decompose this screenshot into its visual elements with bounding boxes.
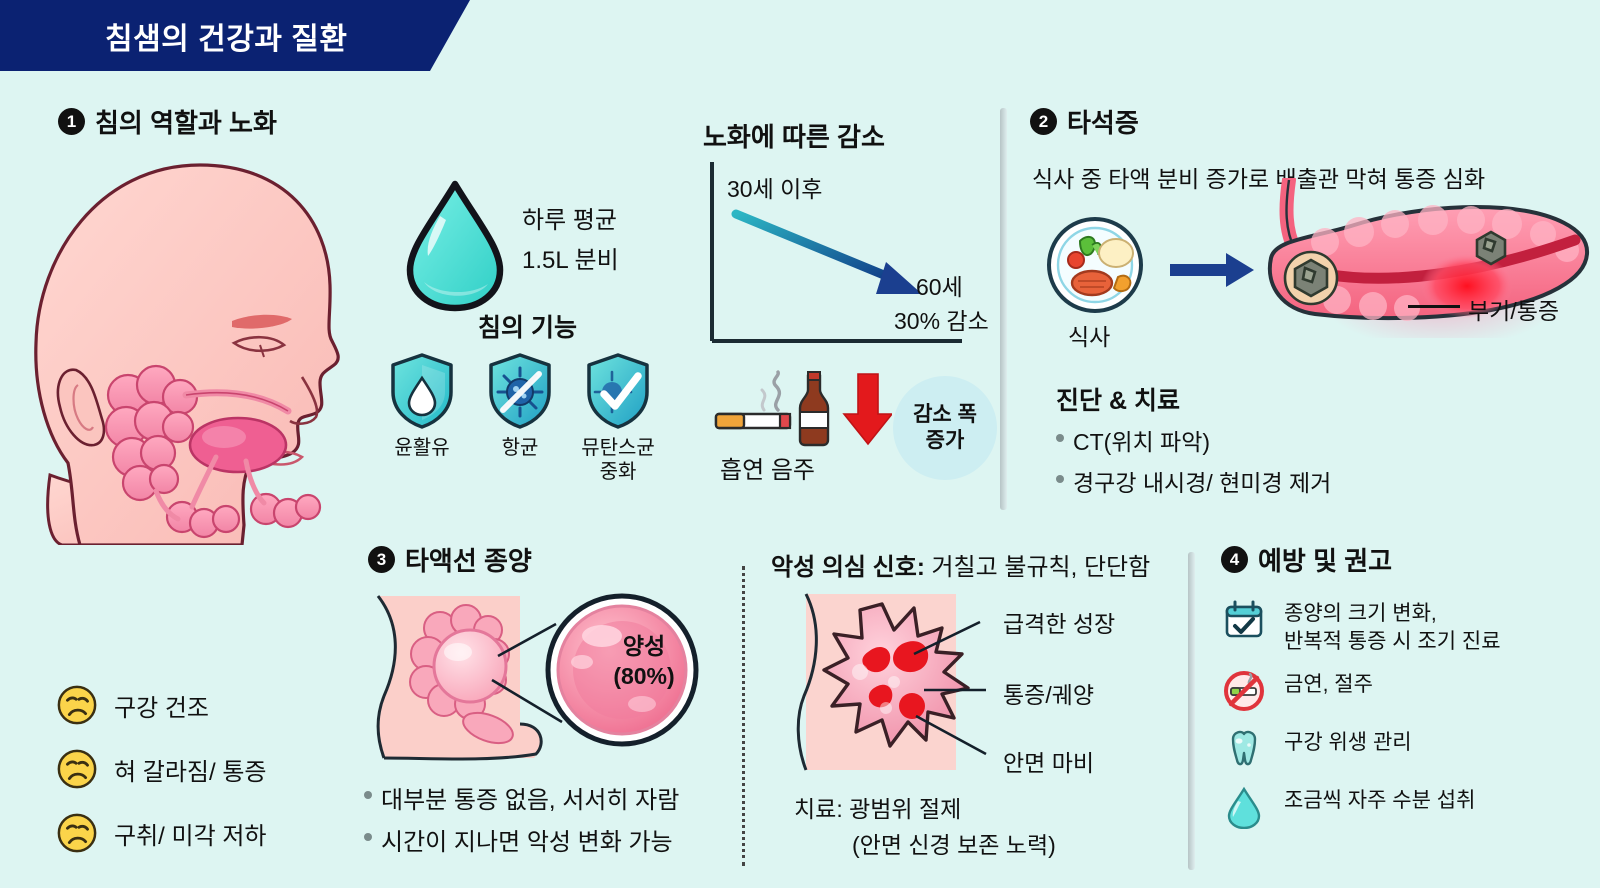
section2-number-badge: 2 <box>1030 108 1057 135</box>
function-item-lubricant: 윤활유 <box>376 352 468 484</box>
aging-chart-title: 노화에 따른 감소 <box>703 117 885 154</box>
malignant-callout-2: 안면 마비 <box>1003 744 1094 778</box>
section3-heading: 3 타액선 종양 <box>368 541 532 578</box>
benign-note-0: 대부분 통증 없음, 서서히 자람 <box>381 780 679 815</box>
section1-heading: 1 침의 역할과 노화 <box>58 103 277 140</box>
malignant-tumor-diagram <box>790 590 1030 775</box>
water-drop-icon <box>1222 785 1266 829</box>
prevention-line1: 종양의 크기 변화, <box>1284 602 1437 625</box>
dry-mouth-symptom-list: 구강 건조 혀 갈라짐/ 통증 구취/ 미각 저하 <box>56 684 266 854</box>
malignant-treatment-line1: 치료: 광범위 절제 <box>794 790 961 824</box>
list-item: 대부분 통증 없음, 서서히 자람 <box>364 780 679 815</box>
tooth-icon <box>1222 727 1266 771</box>
sad-face-icon <box>56 684 98 726</box>
malignant-treatment-line2: (안면 신경 보존 노력) <box>852 826 1056 860</box>
symptom-label-dry-mouth: 구강 건조 <box>114 688 209 723</box>
prevention-item-nosmoking: 금연, 절주 <box>1222 669 1592 713</box>
function-label-antibacterial: 항균 <box>502 436 539 460</box>
drop-label-line1: 하루 평균 <box>522 200 617 235</box>
benign-notes-list: 대부분 통증 없음, 서서히 자람 시간이 지나면 악성 변화 가능 <box>364 780 679 864</box>
diagnosis-treatment-list: CT(위치 파악) 경구강 내시경/ 현미경 제거 <box>1056 423 1331 505</box>
prevention-text-nosmoking: 금연, 절주 <box>1284 669 1373 699</box>
prevention-item-hydration: 조금씩 자주 수분 섭취 <box>1222 785 1592 829</box>
cigarette-icon <box>716 372 790 428</box>
saliva-drop-icon <box>400 178 510 313</box>
list-item: 시간이 지나면 악성 변화 가능 <box>364 822 679 857</box>
section2-title: 타석증 <box>1067 103 1139 140</box>
salivary-glands-head-diagram <box>20 145 390 545</box>
prevention-list: 종양의 크기 변화, 반복적 통증 시 조기 진료 금연, 절주 <box>1222 598 1592 843</box>
benign-label-line1: 양성 <box>589 632 699 662</box>
benign-label-line2: (80%) <box>589 662 699 692</box>
diagnosis-treatment-title: 진단 & 치료 <box>1056 381 1180 417</box>
page-title: 침샘의 건강과 질환 <box>105 14 347 58</box>
treat-item-1: 경구강 내시경/ 현미경 제거 <box>1073 464 1331 498</box>
meal-label: 식사 <box>1068 318 1110 352</box>
section4-heading: 4 예방 및 권고 <box>1221 541 1392 578</box>
symptom-row-dry-mouth: 구강 건조 <box>56 684 266 726</box>
calendar-check-icon <box>1222 598 1266 642</box>
prevention-text-checkup: 종양의 크기 변화, 반복적 통증 시 조기 진료 <box>1284 598 1501 655</box>
bullet-dot-icon <box>1056 434 1064 442</box>
malignant-heading-rest: 거칠고 불규칙, 단단함 <box>925 554 1150 581</box>
divider-vertical-top-right <box>1000 108 1007 510</box>
symptom-label-bad-breath: 구취/ 미각 저하 <box>114 816 266 851</box>
section2-heading: 2 타석증 <box>1030 103 1139 140</box>
section3-title: 타액선 종양 <box>405 541 532 578</box>
decline-increase-badge: 감소 폭 증가 <box>893 376 997 480</box>
sad-face-icon <box>56 748 98 790</box>
shield-check-icon <box>585 352 651 430</box>
section4-title: 예방 및 권고 <box>1258 541 1392 578</box>
drop-label-line2: 1.5L 분비 <box>522 240 619 275</box>
function-label-lubricant: 윤활유 <box>394 436 449 460</box>
divider-vertical-bottom-right <box>1188 552 1195 870</box>
prevention-item-hygiene: 구강 위생 관리 <box>1222 727 1592 771</box>
function-item-antibacterial: 항균 <box>474 352 566 484</box>
treat-item-0: CT(위치 파악) <box>1073 423 1210 457</box>
sad-face-icon <box>56 812 98 854</box>
process-arrow-icon <box>1168 250 1258 290</box>
decline-increase-text: 감소 폭 증가 <box>913 402 977 455</box>
malignant-callout-1: 통증/궤양 <box>1003 676 1094 710</box>
symptom-label-tongue-pain: 혀 갈라짐/ 통증 <box>114 752 266 787</box>
prevention-item-checkup: 종양의 크기 변화, 반복적 통증 시 조기 진료 <box>1222 598 1592 655</box>
down-arrow-icon <box>844 374 892 444</box>
risk-factor-label: 흡연 음주 <box>720 450 815 485</box>
divider-dotted-bottom-middle <box>742 566 745 866</box>
chart-start-label: 30세 이후 <box>727 170 822 204</box>
benign-note-1: 시간이 지나면 악성 변화 가능 <box>381 822 673 857</box>
bullet-dot-icon <box>1056 475 1064 483</box>
section4-number-badge: 4 <box>1221 546 1248 573</box>
chart-end-label-decline: 30% 감소 <box>894 302 989 336</box>
section1-title: 침의 역할과 노화 <box>95 103 277 140</box>
header-bar: 침샘의 건강과 질환 <box>0 0 470 71</box>
malignant-heading-bold: 악성 의심 신호: <box>771 554 925 581</box>
bottle-icon <box>800 372 828 445</box>
function-label-mutans: 뮤탄스균 중화 <box>581 436 655 484</box>
section1-number-badge: 1 <box>58 108 85 135</box>
function-item-mutans: 뮤탄스균 중화 <box>572 352 664 484</box>
malignant-callout-0: 급격한 성장 <box>1003 605 1115 639</box>
bullet-dot-icon <box>364 833 372 841</box>
symptom-row-bad-breath: 구취/ 미각 저하 <box>56 812 266 854</box>
bullet-dot-icon <box>364 791 372 799</box>
prevention-text-hydration: 조금씩 자주 수분 섭취 <box>1284 785 1475 815</box>
section3-number-badge: 3 <box>368 546 395 573</box>
no-smoking-icon <box>1222 669 1266 713</box>
shield-virus-icon <box>487 352 553 430</box>
shield-droplet-icon <box>389 352 455 430</box>
list-item: 경구강 내시경/ 현미경 제거 <box>1056 464 1331 498</box>
benign-label: 양성 (80%) <box>589 632 699 692</box>
prevention-text-hygiene: 구강 위생 관리 <box>1284 727 1412 757</box>
function-shields: 윤활유 항균 <box>376 352 664 484</box>
swelling-leader-line <box>1408 305 1460 308</box>
symptom-row-tongue-pain: 혀 갈라짐/ 통증 <box>56 748 266 790</box>
list-item: CT(위치 파악) <box>1056 423 1331 457</box>
functions-title: 침의 기능 <box>478 308 577 344</box>
chart-end-label-age: 60세 <box>916 268 963 302</box>
risk-factor-icons <box>712 370 892 448</box>
swelling-label: 부기/통증 <box>1468 292 1559 326</box>
infographic-canvas: 침샘의 건강과 질환 1 침의 역할과 노화 <box>0 0 1600 888</box>
malignant-heading: 악성 의심 신호: 거칠고 불규칙, 단단함 <box>771 547 1150 582</box>
meal-plate-icon <box>1040 215 1150 315</box>
prevention-line2: 반복적 통증 시 조기 진료 <box>1284 630 1501 653</box>
